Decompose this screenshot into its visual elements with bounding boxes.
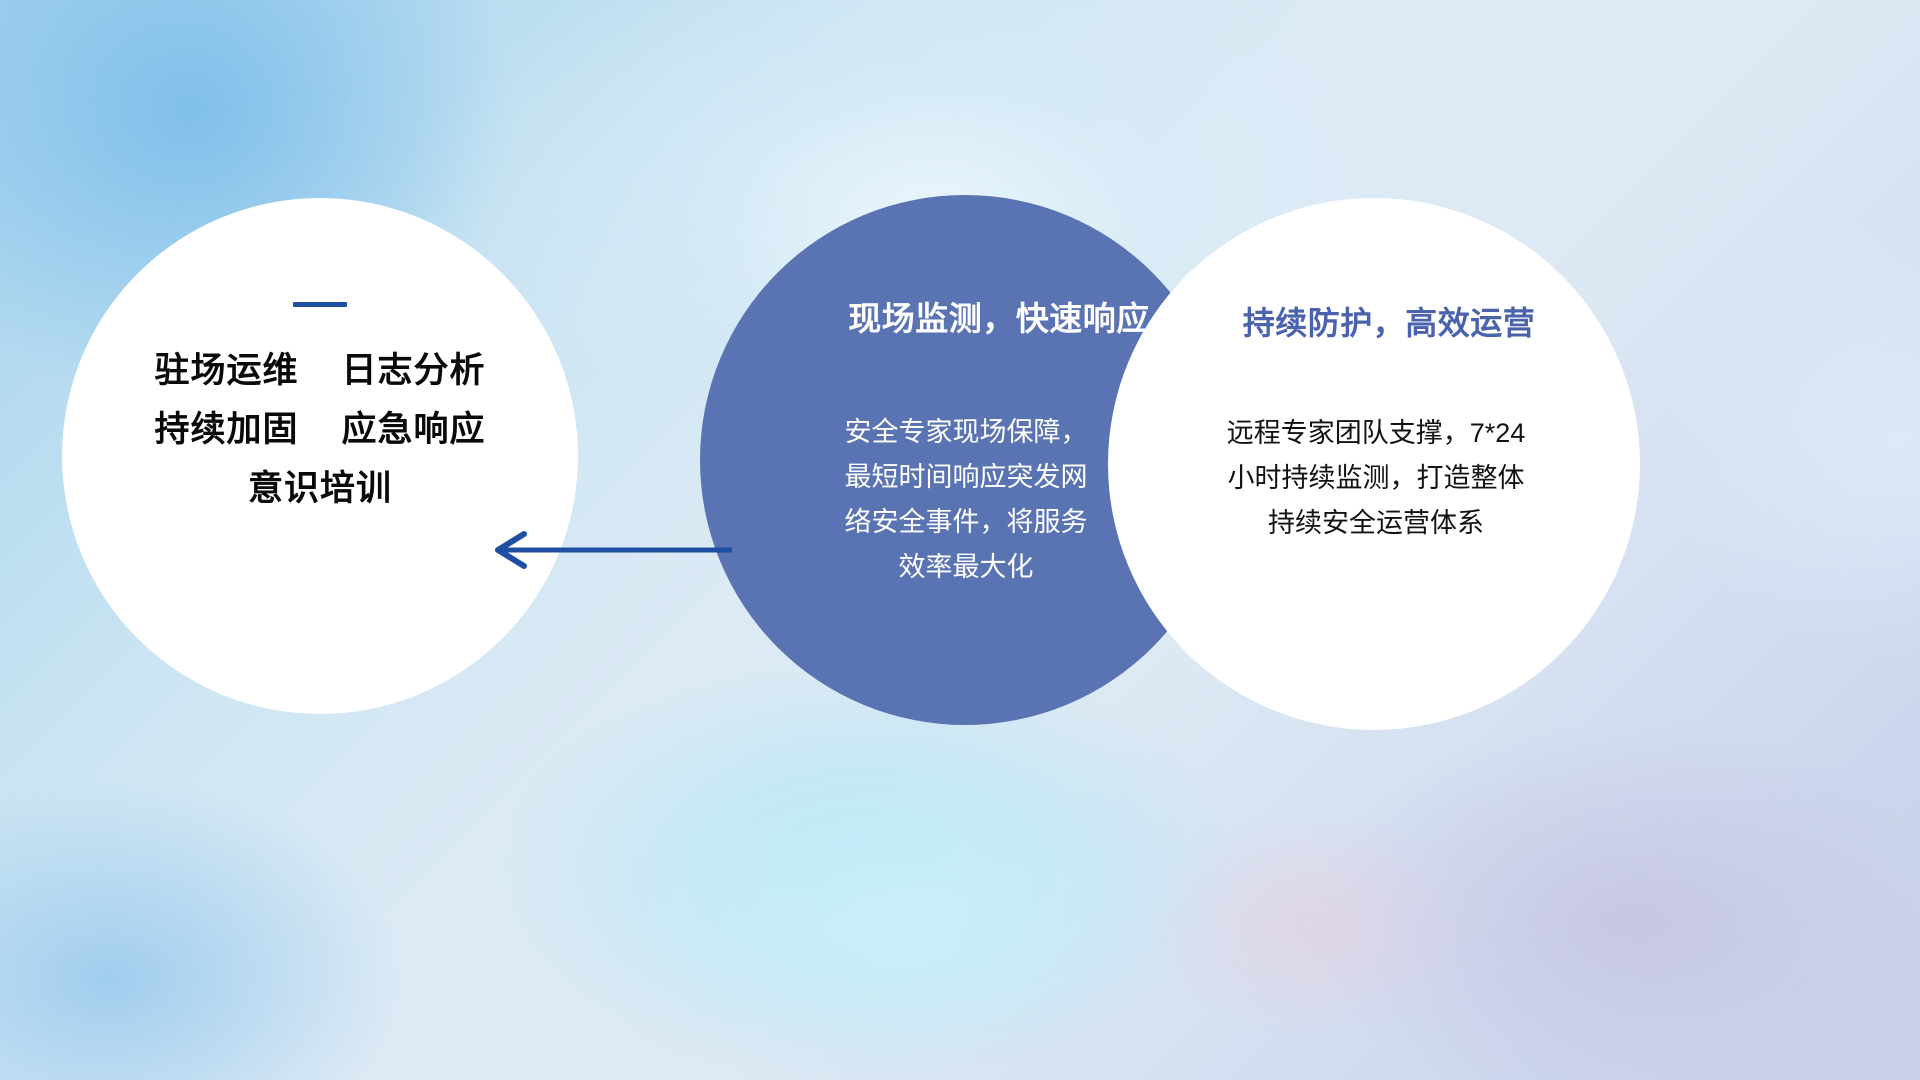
left-keyword-line-2: 持续加固 应急响应	[155, 412, 486, 449]
right-body-line-2: 小时持续监测，打造整体	[1130, 456, 1622, 501]
left-keyword-line-1: 驻场运维 日志分析	[155, 353, 486, 390]
left-circle-content: 驻场运维 日志分析 持续加固 应急响应 意识培训	[62, 198, 578, 714]
right-body-line-1: 远程专家团队支撑，7*24	[1130, 411, 1622, 456]
mid-circle-body: 安全专家现场保障， 最短时间响应突发网 络安全事件，将服务 效率最大化	[766, 410, 1166, 590]
divider-dash	[293, 302, 347, 307]
right-circle-title: 持续防护，高效运营	[1108, 298, 1640, 344]
left-keyword-line-3: 意识培训	[248, 471, 392, 508]
mid-body-line-2: 最短时间响应突发网	[766, 455, 1166, 500]
mid-body-line-4: 效率最大化	[766, 545, 1166, 590]
right-circle-content: 持续防护，高效运营 远程专家团队支撑，7*24 小时持续监测，打造整体 持续安全…	[1108, 198, 1640, 730]
left-circle-keyword-list: 驻场运维 日志分析 持续加固 应急响应 意识培训	[155, 353, 486, 507]
infographic-slide: 驻场运维 日志分析 持续加固 应急响应 意识培训 现场监测，快速响应 安全专家现…	[0, 0, 1920, 1080]
mid-body-line-1: 安全专家现场保障，	[766, 410, 1166, 455]
mid-body-line-3: 络安全事件，将服务	[766, 500, 1166, 545]
right-body-line-3: 持续安全运营体系	[1130, 501, 1622, 546]
right-circle-body: 远程专家团队支撑，7*24 小时持续监测，打造整体 持续安全运营体系	[1130, 411, 1622, 546]
